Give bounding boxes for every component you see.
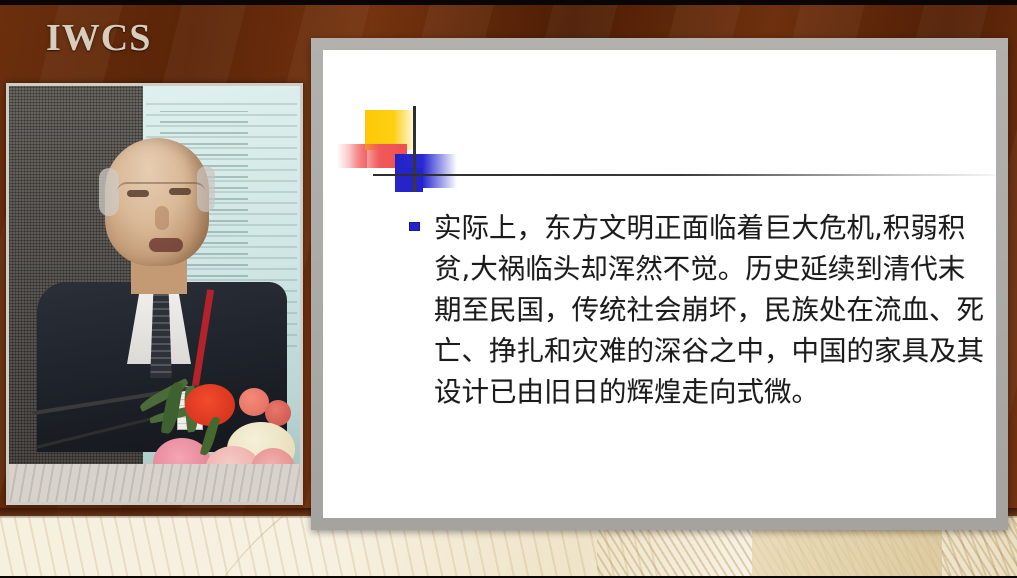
accent-vertical-line: [413, 106, 416, 192]
speaker-photo: [9, 86, 300, 502]
presentation-screenshot: IWCS: [0, 0, 1017, 578]
photo-speaker-eye-left: [127, 190, 149, 197]
accent-horizontal-rule: [373, 174, 996, 176]
slide-canvas: 实际上，东方文明正面临着巨大危机,积弱积贫,大祸临头却浑然不觉。历史延续到清代末…: [323, 50, 996, 518]
letterbox-top: [0, 0, 1017, 5]
slide-body: 实际上，东方文明正面临着巨大危机,积弱积贫,大祸临头却浑然不觉。历史延续到清代末…: [409, 208, 987, 413]
slide-frame: 实际上，东方文明正面临着巨大危机,积弱积贫,大祸临头却浑然不觉。历史延续到清代末…: [311, 38, 1008, 530]
slide-bullet-row: 实际上，东方文明正面临着巨大危机,积弱积贫,大祸临头却浑然不觉。历史延续到清代末…: [409, 208, 987, 413]
speaker-video-inset: [6, 83, 303, 505]
photo-speaker-nose: [155, 206, 169, 230]
photo-speaker-eye-right: [169, 188, 191, 195]
photo-speaker-mouth: [149, 238, 183, 252]
accent-blue-block-2: [395, 168, 423, 192]
photo-table-front: [9, 464, 300, 502]
square-bullet-icon: [409, 222, 420, 231]
iwcs-logo: IWCS: [46, 16, 151, 60]
slide-body-text: 实际上，东方文明正面临着巨大危机,积弱积贫,大祸临头却浑然不觉。历史延续到清代末…: [434, 208, 987, 413]
photo-speaker-hair-left: [99, 168, 119, 216]
